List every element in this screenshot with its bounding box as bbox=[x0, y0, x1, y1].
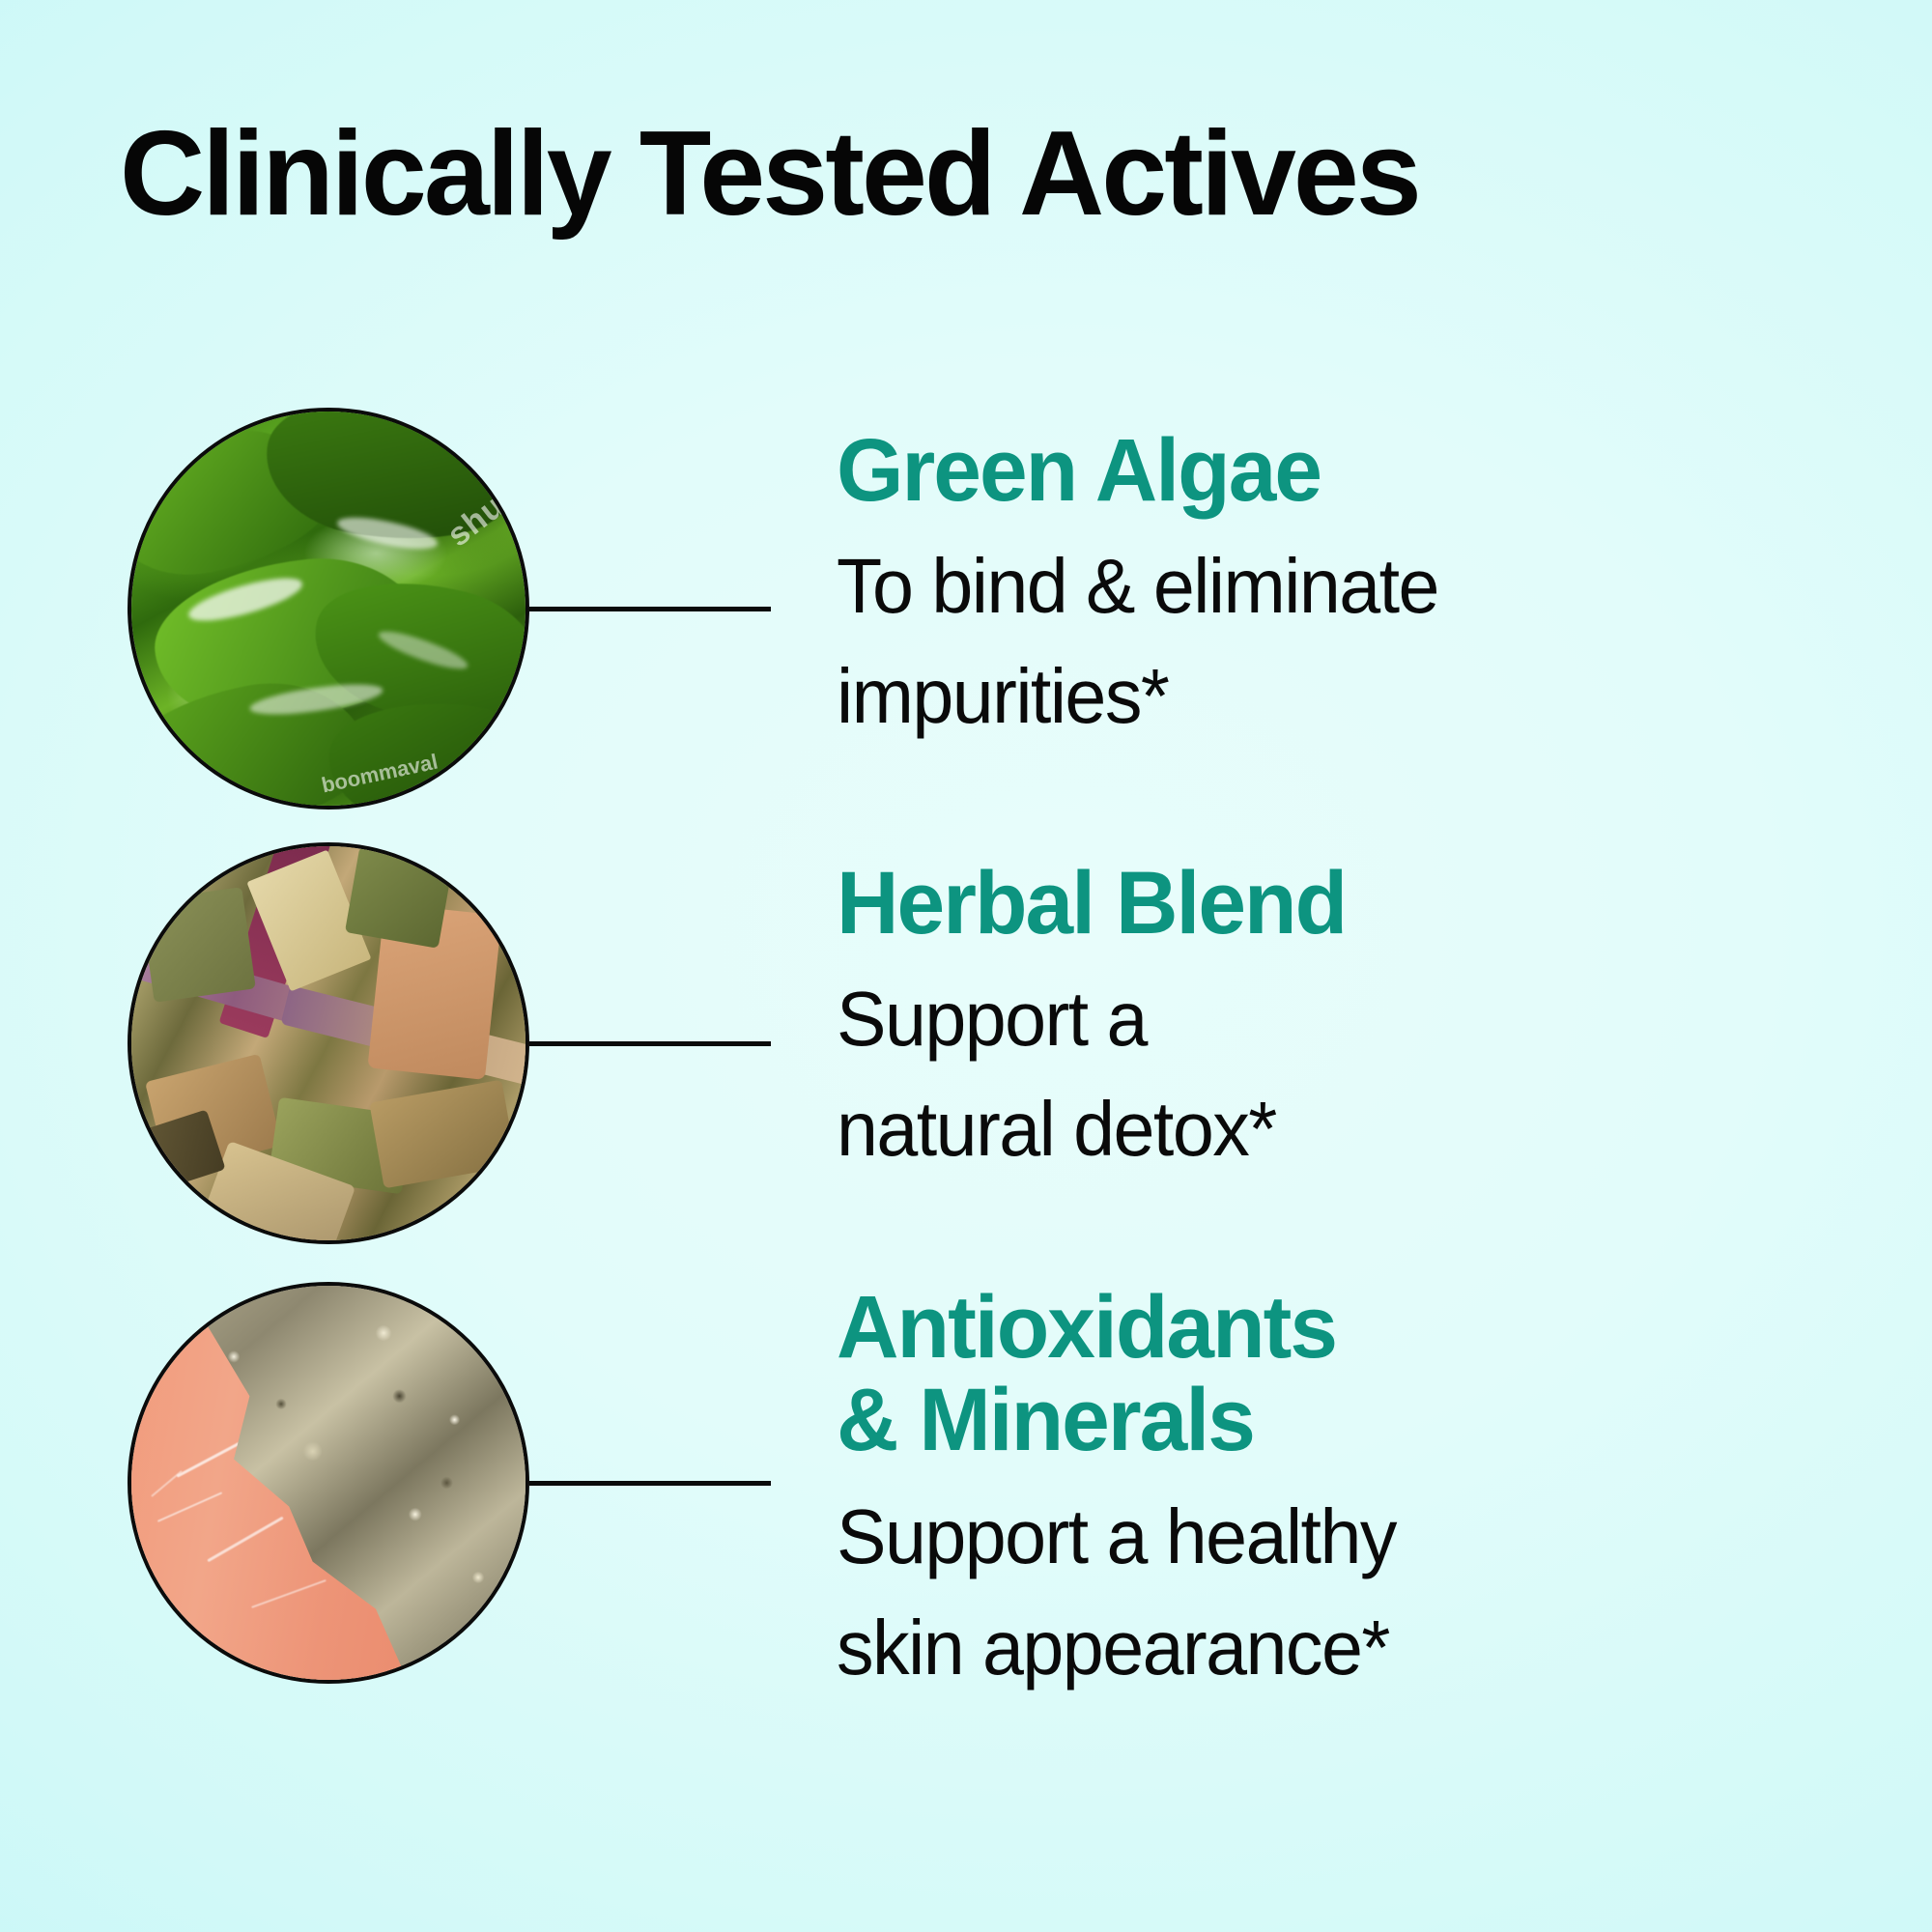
ingredient-text-herbal-blend: Herbal Blend Support a natural detox* bbox=[837, 858, 1861, 1184]
copper-scratch bbox=[157, 1492, 223, 1523]
herb-chip bbox=[369, 1080, 516, 1188]
ingredient-image-antioxidants-minerals bbox=[128, 1282, 529, 1684]
copper-scratch bbox=[252, 1579, 327, 1608]
ingredient-image-green-algae: shut boommaval bbox=[128, 408, 529, 810]
algae-texture: shut boommaval bbox=[131, 412, 526, 806]
copper-scratch bbox=[208, 1517, 284, 1562]
ingredient-name-antioxidants-minerals: Antioxidants & Minerals bbox=[837, 1282, 1830, 1466]
connector-line-herbal-blend bbox=[529, 1041, 771, 1046]
ingredient-description-herbal-blend: Support a natural detox* bbox=[837, 964, 1825, 1185]
ingredients-list: shut boommaval Green Algae To bind & eli… bbox=[0, 0, 1932, 1932]
ingredient-name-herbal-blend: Herbal Blend bbox=[837, 858, 1830, 951]
description-line: natural detox* bbox=[837, 1074, 1825, 1184]
connector-line-antioxidants-minerals bbox=[529, 1481, 771, 1486]
ingredient-image-herbal-blend bbox=[128, 842, 529, 1244]
copper-scratch bbox=[151, 1470, 183, 1497]
description-line: skin appearance* bbox=[837, 1593, 1825, 1703]
herbs-texture bbox=[131, 846, 526, 1240]
connector-line-green-algae bbox=[529, 607, 771, 611]
ingredient-description-green-algae: To bind & eliminate impurities* bbox=[837, 531, 1825, 753]
description-line: To bind & eliminate bbox=[837, 531, 1825, 641]
name-line: & Minerals bbox=[837, 1375, 1830, 1467]
herb-leaf bbox=[345, 846, 453, 948]
description-line: Support a healthy bbox=[837, 1482, 1825, 1592]
description-line: Support a bbox=[837, 964, 1825, 1074]
mineral-texture bbox=[131, 1286, 526, 1680]
ingredient-description-antioxidants-minerals: Support a healthy skin appearance* bbox=[837, 1482, 1825, 1703]
ingredient-text-green-algae: Green Algae To bind & eliminate impuriti… bbox=[837, 425, 1861, 752]
ingredient-name-green-algae: Green Algae bbox=[837, 425, 1830, 518]
name-line: Antioxidants bbox=[837, 1282, 1830, 1375]
ingredient-text-antioxidants-minerals: Antioxidants & Minerals Support a health… bbox=[837, 1282, 1861, 1703]
herb-leaf bbox=[140, 887, 256, 1003]
description-line: impurities* bbox=[837, 641, 1825, 752]
